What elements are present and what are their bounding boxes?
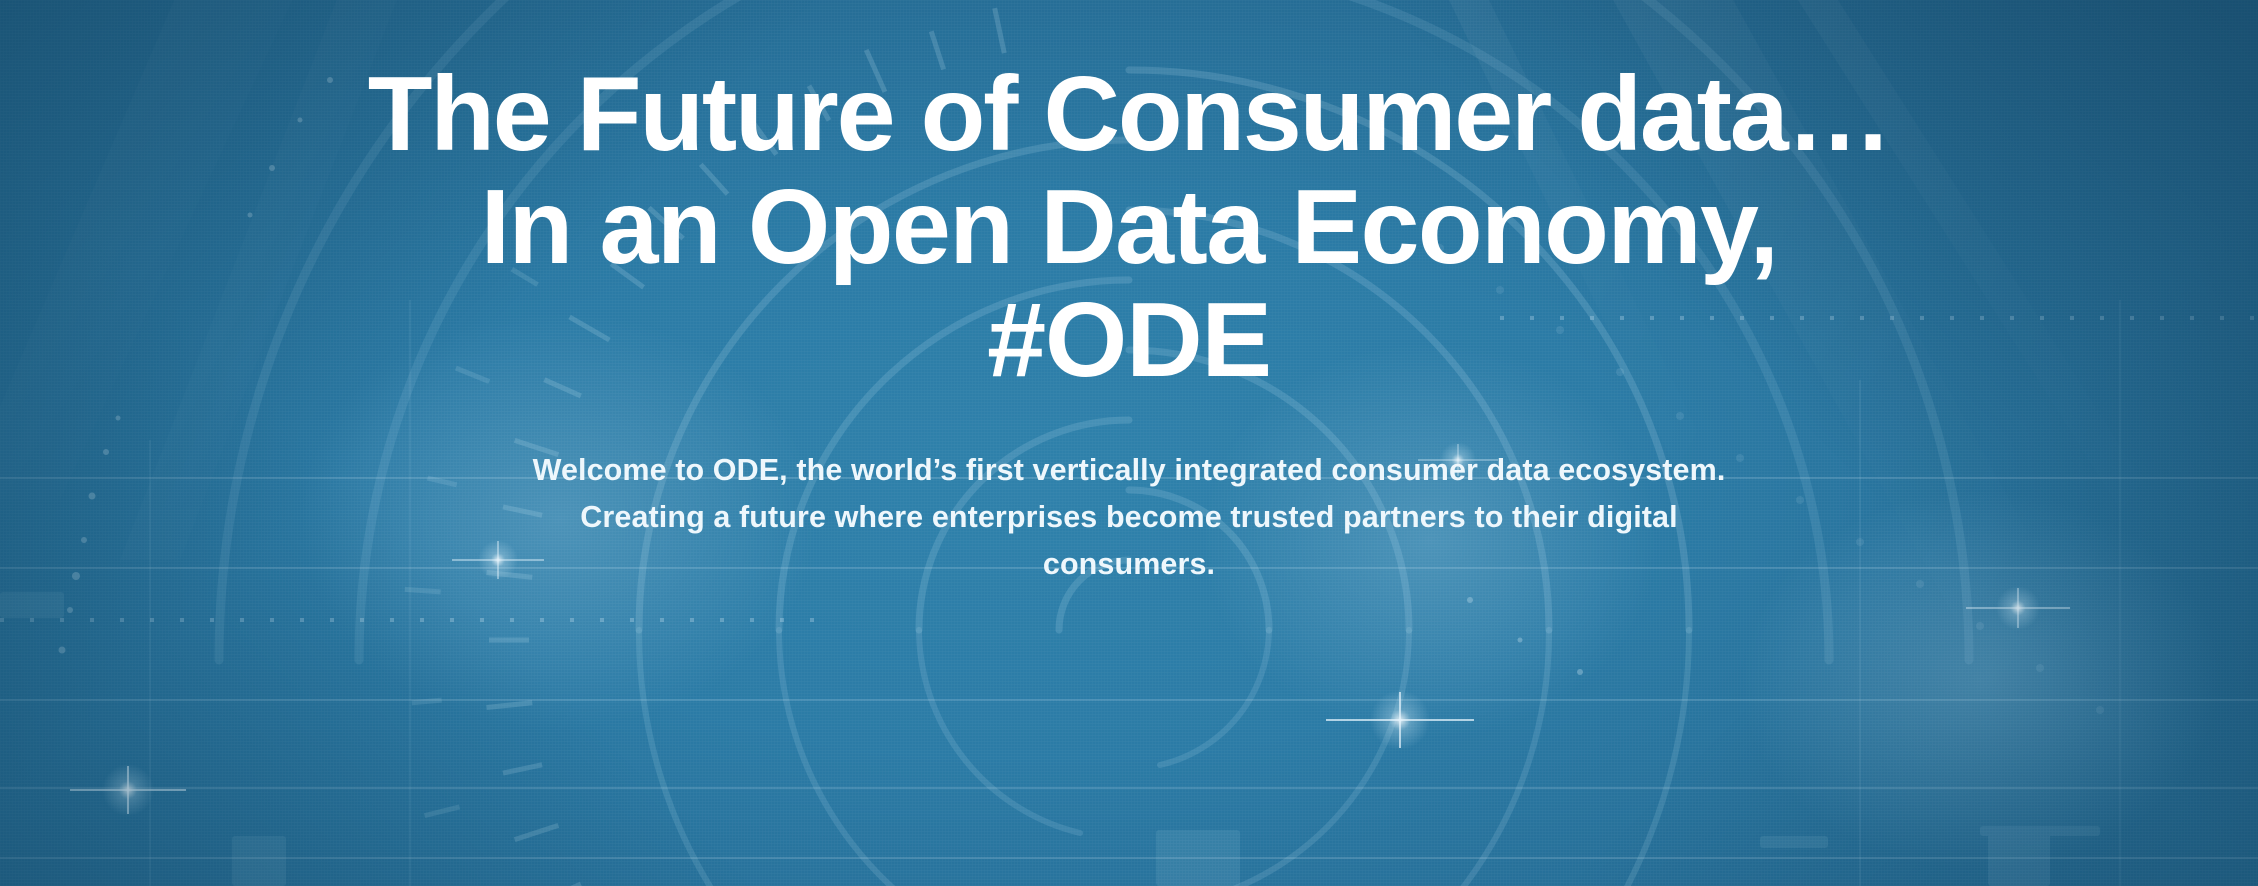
hero-heading-line-3: #ODE [0,284,2258,397]
hero-subtitle-line-2: Creating a future where enterprises beco… [533,494,1726,541]
hero-content: The Future of Consumer data… In an Open … [0,0,2258,886]
hero-subtitle: Welcome to ODE, the world’s first vertic… [533,447,1726,588]
hero-heading-line-2: In an Open Data Economy, [0,171,2258,284]
hero-heading: The Future of Consumer data… In an Open … [0,58,2258,397]
hero-banner: The Future of Consumer data… In an Open … [0,0,2258,886]
hero-subtitle-line-3: consumers. [533,541,1726,588]
hero-subtitle-line-1: Welcome to ODE, the world’s first vertic… [533,447,1726,494]
hero-heading-line-1: The Future of Consumer data… [0,58,2258,171]
